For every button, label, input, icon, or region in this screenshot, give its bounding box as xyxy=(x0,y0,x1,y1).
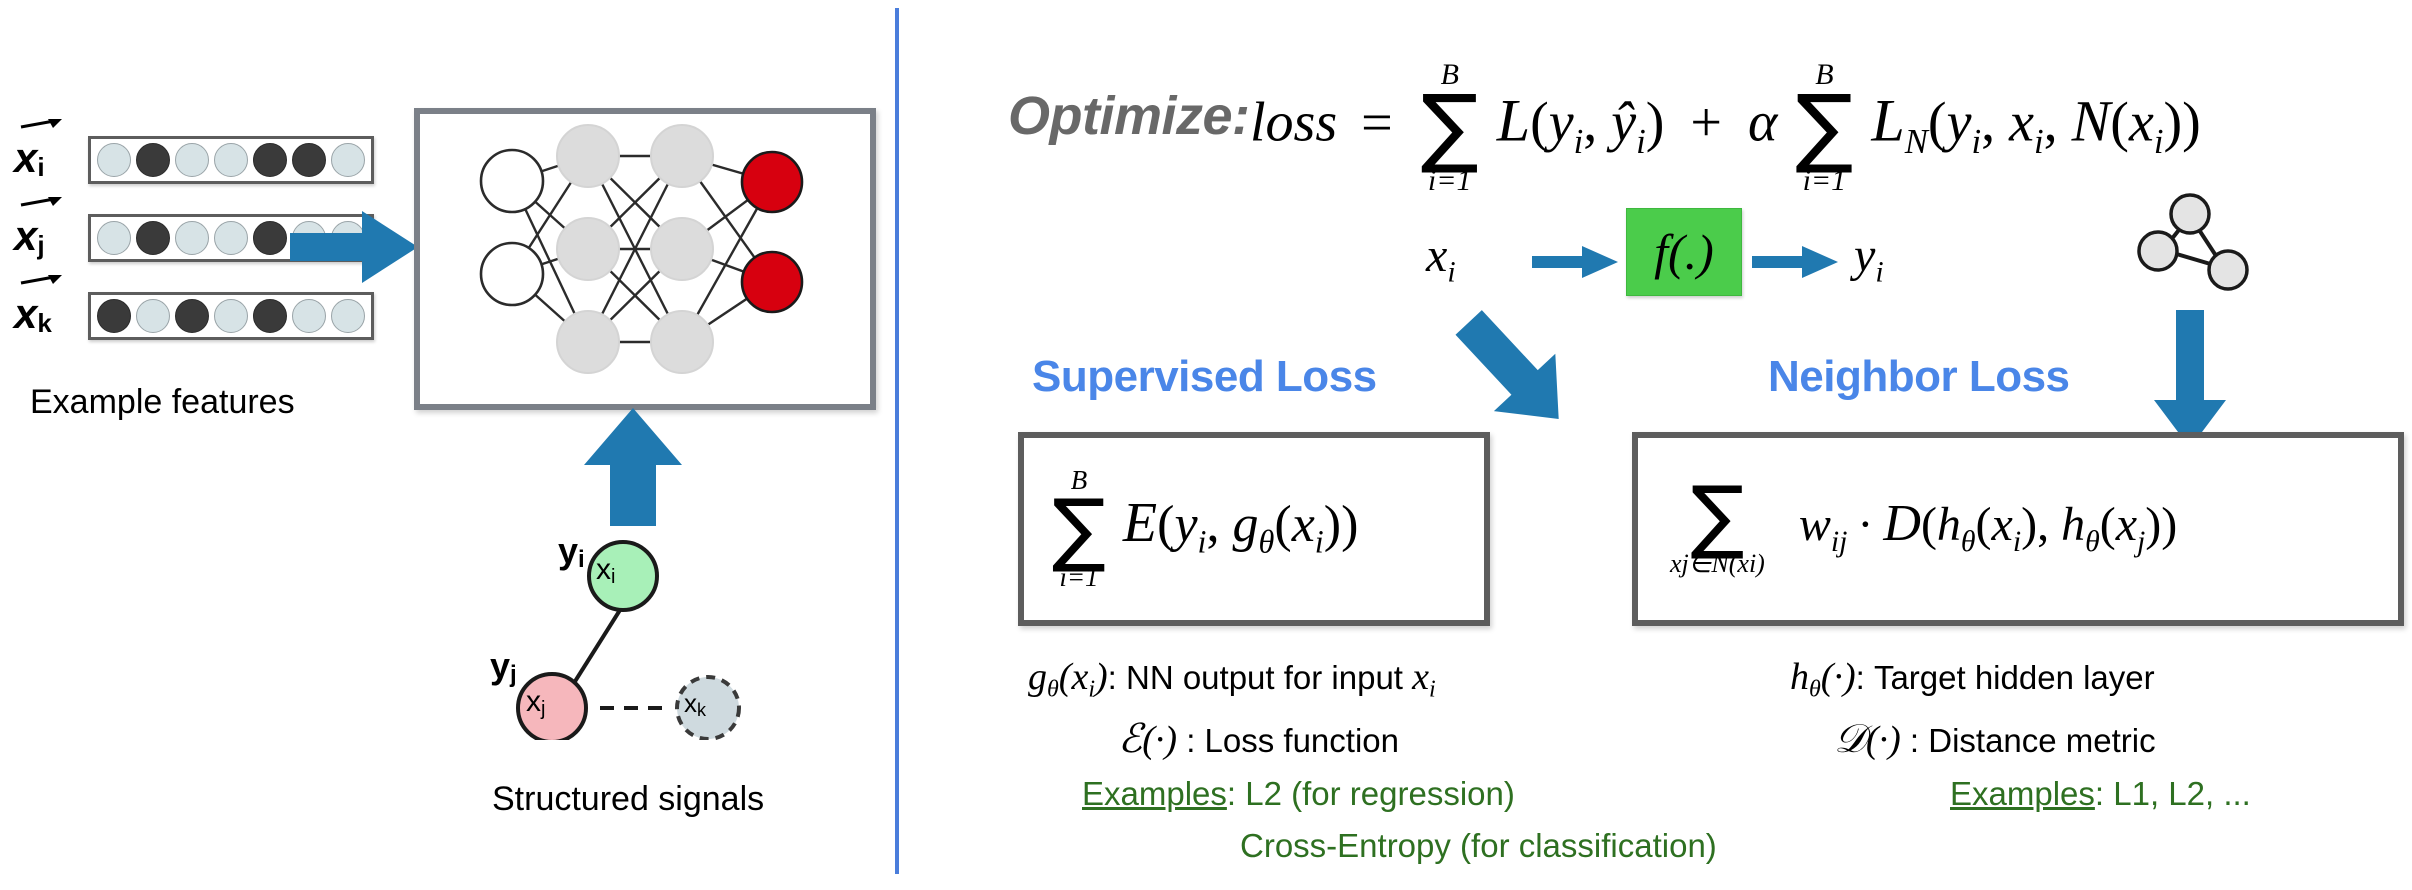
hidden-node xyxy=(557,125,619,187)
nb-h1-sub: θ xyxy=(1961,525,1976,558)
feature-dot xyxy=(97,299,131,333)
examples-colon-1: : xyxy=(1227,775,1245,812)
legend-d-arg: (·) xyxy=(1866,719,1901,761)
node-xi-sub: i xyxy=(611,566,615,588)
pipeline-arrow-in-icon xyxy=(1532,245,1618,279)
sigma-icon: ∑ xyxy=(1690,481,1744,551)
sup-y-sub: i xyxy=(1198,523,1207,559)
neural-network-diagram xyxy=(420,114,858,392)
example-features-caption: Example features xyxy=(30,383,295,422)
feature-dot xyxy=(97,143,131,177)
nb-w-sub: ij xyxy=(1831,525,1848,558)
legend-e-arg: (·) xyxy=(1142,719,1177,761)
feature-dot xyxy=(253,299,287,333)
feature-dot xyxy=(175,299,209,333)
formula-y: y xyxy=(1549,92,1574,154)
feature-dot xyxy=(331,143,365,177)
graph-icon-node xyxy=(2209,251,2247,289)
vector-arrow-icon xyxy=(20,273,62,289)
formula-equals: = xyxy=(1361,92,1393,154)
supervised-loss-box: B ∑ i=1 E(yi, gθ(xi)) xyxy=(1018,432,1490,626)
calligraphic-N: N xyxy=(2072,89,2111,154)
graph-icon-node xyxy=(2171,195,2209,233)
label-yi: yi xyxy=(558,530,585,574)
feature-dot xyxy=(136,221,170,255)
calligraphic-L-2: L xyxy=(1871,88,1904,154)
examples-colon-2: : xyxy=(2095,775,2113,812)
feature-dot xyxy=(214,143,248,177)
vector-symbol: x xyxy=(14,134,37,181)
label-yj-base: y xyxy=(490,645,510,686)
feature-dot xyxy=(136,143,170,177)
summation-supervised: B ∑ i=1 xyxy=(1052,467,1106,591)
output-node xyxy=(742,252,802,312)
nb-paren-open: ( xyxy=(1921,498,1937,551)
sup-x-sub: i xyxy=(1315,523,1324,559)
feature-row-i: xi xyxy=(14,136,374,184)
main-loss-formula: loss = B ∑ i=1 L(yi, ŷi) + α B ∑ i=1 LN(… xyxy=(1250,60,2201,196)
slide-canvas: xi xj xyxy=(0,0,2412,890)
neighbor-legend-text-2: : Distance metric xyxy=(1901,722,2156,759)
calligraphic-D-legend: 𝒟 xyxy=(1834,716,1866,761)
sigma-icon: ∑ xyxy=(1421,90,1479,166)
formula2-y: y xyxy=(1947,92,1972,154)
nb-p2: ( xyxy=(2100,498,2116,551)
vector-subscript: k xyxy=(37,308,51,338)
h-theta-arg: (·) xyxy=(1821,656,1856,698)
calligraphic-L-1: L xyxy=(1497,88,1530,154)
node-xi-base: x xyxy=(596,553,611,586)
formula-yhat-sub: i xyxy=(1636,122,1646,161)
neighbor-legend-text-1: : Target hidden layer xyxy=(1856,659,2155,696)
neighbor-loss-formula: ∑ xj∈N(xi) wij·D(hθ(xi), hθ(xj)) xyxy=(1638,481,2177,577)
formula-yhat: ŷ xyxy=(1611,92,1636,154)
h-theta-sub: θ xyxy=(1809,677,1821,703)
formula-comma: , xyxy=(1583,92,1611,154)
formula-plus: + xyxy=(1690,92,1722,154)
neighbor-loss-box: ∑ xj∈N(xi) wij·D(hθ(xi), hθ(xj)) xyxy=(1632,432,2404,626)
neighbor-legend-line-2: 𝒟(·) : Distance metric xyxy=(1834,715,2156,762)
feature-dot xyxy=(253,221,287,255)
feature-dot xyxy=(292,299,326,333)
feature-vector-label-j: xj xyxy=(14,215,88,261)
feature-dot xyxy=(97,221,131,255)
input-node xyxy=(481,243,543,305)
sup-paren-open: ( xyxy=(1157,496,1174,553)
nb-p1: ( xyxy=(1976,498,1992,551)
feature-dot xyxy=(214,299,248,333)
nb-h2-sub: θ xyxy=(2085,525,2100,558)
supervised-legend-text-2: : Loss function xyxy=(1177,722,1399,759)
pipeline-arrow-out-icon xyxy=(1752,245,1838,279)
sup-g: g xyxy=(1233,496,1259,553)
nb-x2: x xyxy=(2116,498,2137,551)
hidden-node xyxy=(557,218,619,280)
neural-network-box xyxy=(414,108,876,410)
node-xj-label: xj xyxy=(526,685,545,721)
label-yj: yj xyxy=(490,645,517,689)
feature-dot xyxy=(253,143,287,177)
pipeline-output-label: yi xyxy=(1854,228,1884,290)
structured-signals-caption: Structured signals xyxy=(492,780,764,819)
examples-text-1: L2 (for regression) xyxy=(1245,775,1515,812)
supervised-examples-line-1: Examples: L2 (for regression) xyxy=(1082,775,1515,813)
sum-lower-limit: xj∈N(xi) xyxy=(1670,551,1765,577)
optimize-label: Optimize: xyxy=(1008,85,1250,147)
formula-alpha: α xyxy=(1748,92,1777,154)
sum-lower-limit: i=1 xyxy=(1428,166,1472,196)
g-theta-arg-sub: i xyxy=(1088,677,1095,703)
sup-paren2-open: ( xyxy=(1274,496,1291,553)
formula2-paren-open: ( xyxy=(1928,92,1947,154)
sup-g-sub: θ xyxy=(1259,523,1275,559)
neighbor-examples-line-1: Examples: L1, L2, ... xyxy=(1950,775,2251,813)
g-theta-sub: θ xyxy=(1047,677,1059,703)
supervised-legend-text-1: : NN output for input xyxy=(1108,659,1413,696)
hidden-node xyxy=(557,311,619,373)
vector-arrow-icon xyxy=(20,117,62,133)
nb-dot: · xyxy=(1857,498,1873,551)
sigma-icon: ∑ xyxy=(1795,90,1853,166)
triangle-graph-icon xyxy=(2128,178,2268,298)
hidden-node xyxy=(651,125,713,187)
nb-parens-close: )) xyxy=(2145,498,2177,551)
supervised-loss-formula: B ∑ i=1 E(yi, gθ(xi)) xyxy=(1024,467,1358,591)
summation-2: B ∑ i=1 xyxy=(1795,60,1853,196)
calligraphic-D: D xyxy=(1883,495,1921,552)
feature-dot xyxy=(175,221,209,255)
feature-dot xyxy=(292,143,326,177)
sum-lower-limit: i=1 xyxy=(1803,166,1847,196)
formula2-comma1: , xyxy=(1981,92,2009,154)
triangle-graph-svg xyxy=(2128,178,2268,298)
network-edges xyxy=(512,156,772,342)
feature-dot xyxy=(136,299,170,333)
supervised-loss-title: Supervised Loss xyxy=(1032,352,1377,402)
supervised-loss-arrow-icon xyxy=(1438,300,1588,440)
neighbor-loss-arrow-icon xyxy=(2150,310,2230,450)
nb-x1-sub: i xyxy=(2013,525,2021,558)
panel-divider xyxy=(895,8,899,874)
formula-y-sub: i xyxy=(1574,122,1584,161)
feature-vector-label-i: xi xyxy=(14,137,88,183)
pipeline-output-sub: i xyxy=(1875,256,1883,289)
feature-dot xyxy=(331,299,365,333)
node-xk-label: xk xyxy=(684,688,706,721)
nb-h1: h xyxy=(1937,498,1961,551)
calligraphic-E-legend: ℰ xyxy=(1118,716,1142,761)
h-theta-symbol: h xyxy=(1790,656,1809,698)
sup-parens-close: )) xyxy=(1324,496,1359,553)
sup-y: y xyxy=(1174,496,1197,553)
node-xk-base: x xyxy=(684,688,697,718)
hidden-node xyxy=(651,218,713,280)
summation-neighbor: ∑ xj∈N(xi) xyxy=(1670,481,1765,577)
signals-to-network-arrow-icon xyxy=(578,408,688,526)
vector-arrow-icon xyxy=(20,195,62,211)
neighbor-loss-title: Neighbor Loss xyxy=(1768,352,2070,402)
sup-x: x xyxy=(1292,496,1315,553)
node-xi-label: xi xyxy=(596,553,615,589)
formula2-paren2-open: ( xyxy=(2110,92,2129,154)
summation-1: B ∑ i=1 xyxy=(1421,60,1479,196)
legend-x: x xyxy=(1412,656,1429,698)
g-theta-close: ) xyxy=(1095,656,1108,698)
nb-h2: h xyxy=(2061,498,2085,551)
pipeline-input-sub: i xyxy=(1447,256,1455,289)
feature-dots-k xyxy=(88,292,374,340)
vector-symbol: x xyxy=(14,212,37,259)
g-theta-symbol: g xyxy=(1028,656,1047,698)
neighbor-legend-line-1: hθ(·): Target hidden layer xyxy=(1790,655,2155,704)
formula2-x2: x xyxy=(2129,92,2154,154)
legend-x-sub: i xyxy=(1429,677,1436,703)
node-xj-base: x xyxy=(526,685,541,718)
function-box: f(.) xyxy=(1626,208,1742,296)
sum-lower-limit: i=1 xyxy=(1059,564,1098,591)
formula2-parens-close: )) xyxy=(2163,92,2200,154)
input-node xyxy=(481,150,543,212)
formula-lhs: loss xyxy=(1250,92,1337,154)
nb-p1c: ), xyxy=(2021,498,2061,551)
formula-paren-close: ) xyxy=(1646,92,1665,154)
nb-x1: x xyxy=(1992,498,2013,551)
feature-dot xyxy=(214,221,248,255)
graph-icon-node xyxy=(2139,232,2177,270)
formula2-comma2: , xyxy=(2044,92,2072,154)
sigma-icon: ∑ xyxy=(1052,494,1106,564)
label-yj-sub: j xyxy=(510,661,517,688)
supervised-legend-line-1: gθ(xi): NN output for input xi xyxy=(1028,655,1436,704)
label-yi-base: y xyxy=(558,530,578,571)
nb-w: w xyxy=(1799,498,1831,551)
g-theta-arg: (x xyxy=(1059,656,1089,698)
sup-comma: , xyxy=(1207,496,1233,553)
supervised-examples-line-2: Cross-Entropy (for classification) xyxy=(1240,827,1717,865)
node-xk-sub: k xyxy=(697,700,706,720)
vector-subscript: i xyxy=(37,152,44,182)
formula2-x: x xyxy=(2009,92,2034,154)
pipeline-input-label: xi xyxy=(1426,228,1456,290)
calligraphic-E: E xyxy=(1123,492,1157,554)
feature-dot xyxy=(175,143,209,177)
formula2-y-sub: i xyxy=(1971,122,1981,161)
function-box-label: f(.) xyxy=(1654,223,1714,281)
hidden-node xyxy=(651,311,713,373)
node-xj-sub: j xyxy=(541,698,545,720)
features-to-network-arrow-icon xyxy=(290,205,420,290)
pipeline-input-base: x xyxy=(1426,229,1447,282)
calligraphic-N-sub: N xyxy=(1905,122,1928,161)
pipeline-output-base: y xyxy=(1854,229,1875,282)
examples-text-2: L1, L2, ... xyxy=(2113,775,2251,812)
formula2-x-sub: i xyxy=(2034,122,2044,161)
feature-dots-i xyxy=(88,136,374,184)
examples-label-supervised: Examples xyxy=(1082,775,1227,812)
supervised-legend-line-2: ℰ(·) : Loss function xyxy=(1118,715,1399,762)
feature-vector-label-k: xk xyxy=(14,293,88,339)
examples-label-neighbor: Examples xyxy=(1950,775,2095,812)
output-node xyxy=(742,152,802,212)
label-yi-sub: i xyxy=(578,546,585,573)
feature-row-k: xk xyxy=(14,292,374,340)
vector-subscript: j xyxy=(37,230,44,260)
formula-paren-open: ( xyxy=(1530,92,1549,154)
vector-symbol: x xyxy=(14,290,37,337)
